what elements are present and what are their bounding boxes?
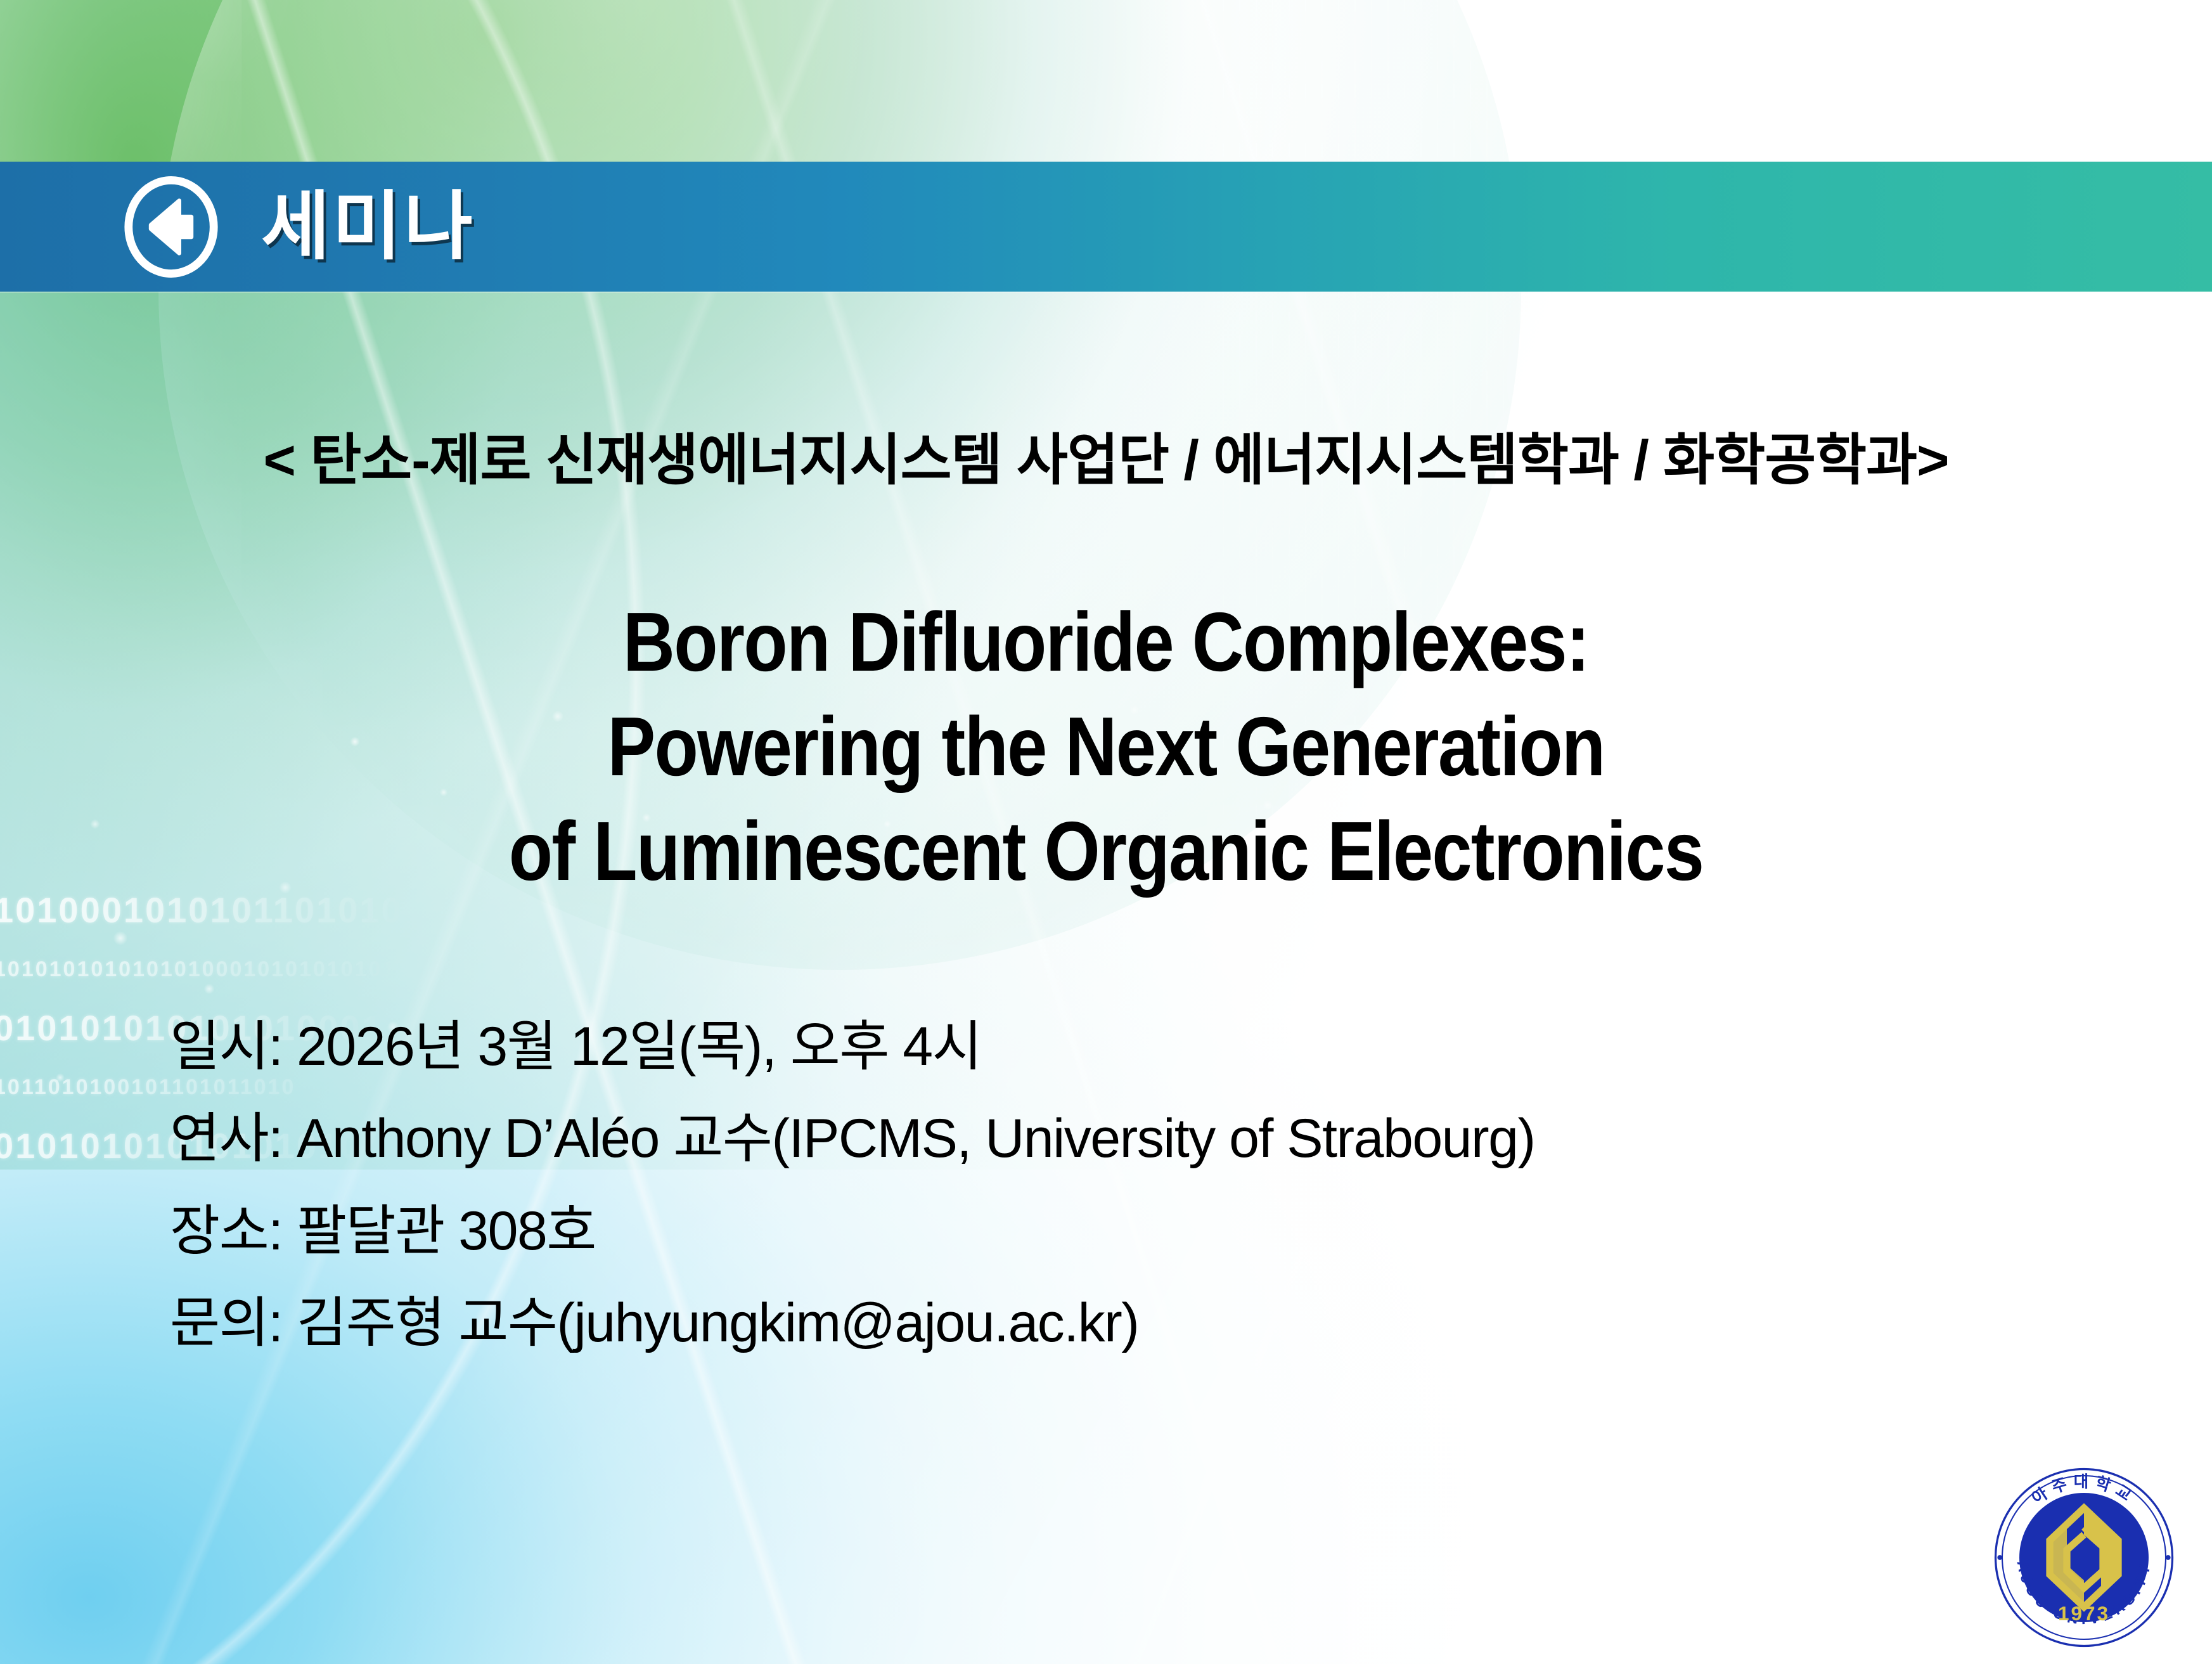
organization-line: < 탄소-제로 신재생에너지시스템 사업단 / 에너지시스템학과 / 화학공학과… xyxy=(0,431,2212,489)
talk-title-line-1: Boron Difluoride Complexes: xyxy=(155,590,2057,694)
header-bar: 세미나 xyxy=(0,162,2212,292)
talk-title-line-2: Powering the Next Generation xyxy=(155,694,2057,799)
detail-datetime: 일시: 2026년 3월 12일(목), 오후 4시 xyxy=(170,1003,1535,1091)
seminar-details: 일시: 2026년 3월 12일(목), 오후 4시 연사: Anthony D… xyxy=(170,1003,1535,1371)
seminar-poster: 101000101010110101011010 101010101010101… xyxy=(0,0,2212,1664)
logo-year: 1973 xyxy=(2058,1602,2110,1625)
back-arrow-circle-icon[interactable] xyxy=(120,176,222,278)
poster-content: < 탄소-제로 신재생에너지시스템 사업단 / 에너지시스템학과 / 화학공학과… xyxy=(0,292,2212,1664)
ajou-university-logo: 아주대학교 AJOU UNIVERSITY 1973 xyxy=(1989,1462,2179,1653)
header-title: 세미나 xyxy=(261,190,475,264)
talk-title: Boron Difluoride Complexes: Powering the… xyxy=(155,590,2057,903)
talk-title-line-3: of Luminescent Organic Electronics xyxy=(155,799,2057,903)
detail-contact: 문의: 김주형 교수(juhyungkim@ajou.ac.kr) xyxy=(170,1279,1535,1367)
detail-speaker: 연사: Anthony D’Aléo 교수(IPCMS, University … xyxy=(170,1095,1535,1183)
detail-venue: 장소: 팔달관 308호 xyxy=(170,1187,1535,1275)
